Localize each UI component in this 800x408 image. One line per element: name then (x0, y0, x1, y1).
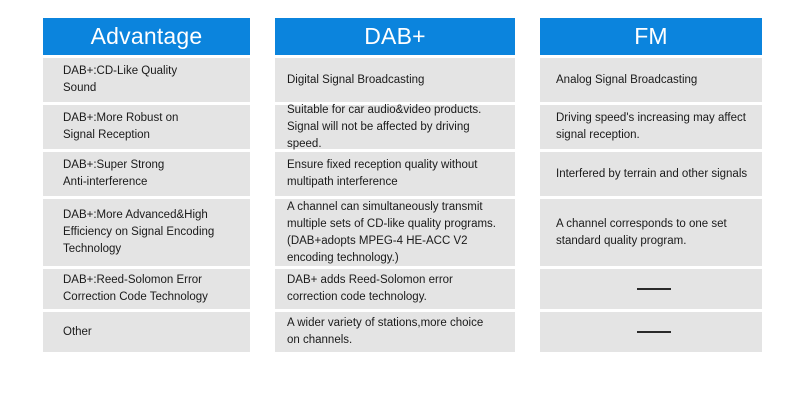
column-header-dab-plus: DAB+ (275, 18, 515, 55)
cell-line: A channel can simultaneously transmit (287, 199, 503, 216)
table-cell-advantage-3: DAB+:Super Strong Anti-interference (43, 152, 250, 196)
cell-line: Technology (63, 241, 240, 258)
table-cell-dab-plus-4: A channel can simultaneously transmit mu… (275, 199, 515, 266)
table-cell-dab-plus-1: Digital Signal Broadcasting (275, 58, 515, 102)
cell-line: Signal Reception (63, 127, 240, 144)
cell-line: DAB+ adds Reed-Solomon error (287, 272, 503, 289)
em-dash-placeholder: —— (637, 288, 671, 290)
cell-line: Ensure fixed reception quality without (287, 157, 503, 174)
cell-line: Other (63, 324, 240, 341)
cell-line: speed. (287, 136, 503, 153)
cell-line: encoding technology.) (287, 250, 503, 267)
table-cell-fm-2: Driving speed's increasing may affect si… (540, 105, 762, 149)
table-column-dab-plus: DAB+ Digital Signal Broadcasting Suitabl… (275, 18, 515, 352)
cell-line: Anti-interference (63, 174, 240, 191)
table-cell-fm-3: Interfered by terrain and other signals (540, 152, 762, 196)
table-cell-fm-6: —— (540, 312, 762, 352)
table-column-advantage: Advantage DAB+:CD-Like Quality Sound DAB… (43, 18, 250, 352)
cell-line: DAB+:Reed-Solomon Error (63, 272, 240, 289)
column-header-fm: FM (540, 18, 762, 55)
table-cell-advantage-1: DAB+:CD-Like Quality Sound (43, 58, 250, 102)
cell-line: (DAB+adopts MPEG-4 HE-ACC V2 (287, 233, 503, 250)
table-cell-fm-5: —— (540, 269, 762, 309)
table-cell-dab-plus-2: Suitable for car audio&video products. S… (275, 105, 515, 149)
table-cell-advantage-4: DAB+:More Advanced&High Efficiency on Si… (43, 199, 250, 266)
cell-line: Driving speed's increasing may affect (556, 110, 752, 127)
em-dash-placeholder: —— (637, 331, 671, 333)
comparison-table: Advantage DAB+:CD-Like Quality Sound DAB… (43, 18, 762, 352)
cell-line: DAB+:CD-Like Quality (63, 63, 240, 80)
table-cell-fm-4: A channel corresponds to one set standar… (540, 199, 762, 266)
table-cell-advantage-2: DAB+:More Robust on Signal Reception (43, 105, 250, 149)
cell-line: A wider variety of stations,more choice (287, 315, 503, 332)
cell-line: A channel corresponds to one set (556, 216, 752, 233)
cell-line: DAB+:More Robust on (63, 110, 240, 127)
cell-line: Signal will not be affected by driving (287, 119, 503, 136)
column-header-advantage: Advantage (43, 18, 250, 55)
table-column-fm: FM Analog Signal Broadcasting Driving sp… (540, 18, 762, 352)
cell-line: Digital Signal Broadcasting (287, 72, 503, 89)
cell-line: Suitable for car audio&video products. (287, 102, 503, 119)
table-cell-dab-plus-6: A wider variety of stations,more choice … (275, 312, 515, 352)
table-cell-dab-plus-5: DAB+ adds Reed-Solomon error correction … (275, 269, 515, 309)
table-cell-advantage-6: Other (43, 312, 250, 352)
table-cell-fm-1: Analog Signal Broadcasting (540, 58, 762, 102)
cell-line: multipath interference (287, 174, 503, 191)
cell-line: DAB+:Super Strong (63, 157, 240, 174)
cell-line: on channels. (287, 332, 503, 349)
table-cell-dab-plus-3: Ensure fixed reception quality without m… (275, 152, 515, 196)
cell-line: signal reception. (556, 127, 752, 144)
cell-line: Interfered by terrain and other signals (556, 166, 752, 183)
cell-line: standard quality program. (556, 233, 752, 250)
cell-line: DAB+:More Advanced&High (63, 207, 240, 224)
cell-line: correction code technology. (287, 289, 503, 306)
cell-line: multiple sets of CD-like quality program… (287, 216, 503, 233)
cell-line: Sound (63, 80, 240, 97)
cell-line: Analog Signal Broadcasting (556, 72, 752, 89)
table-cell-advantage-5: DAB+:Reed-Solomon Error Correction Code … (43, 269, 250, 309)
cell-line: Efficiency on Signal Encoding (63, 224, 240, 241)
cell-line: Correction Code Technology (63, 289, 240, 306)
